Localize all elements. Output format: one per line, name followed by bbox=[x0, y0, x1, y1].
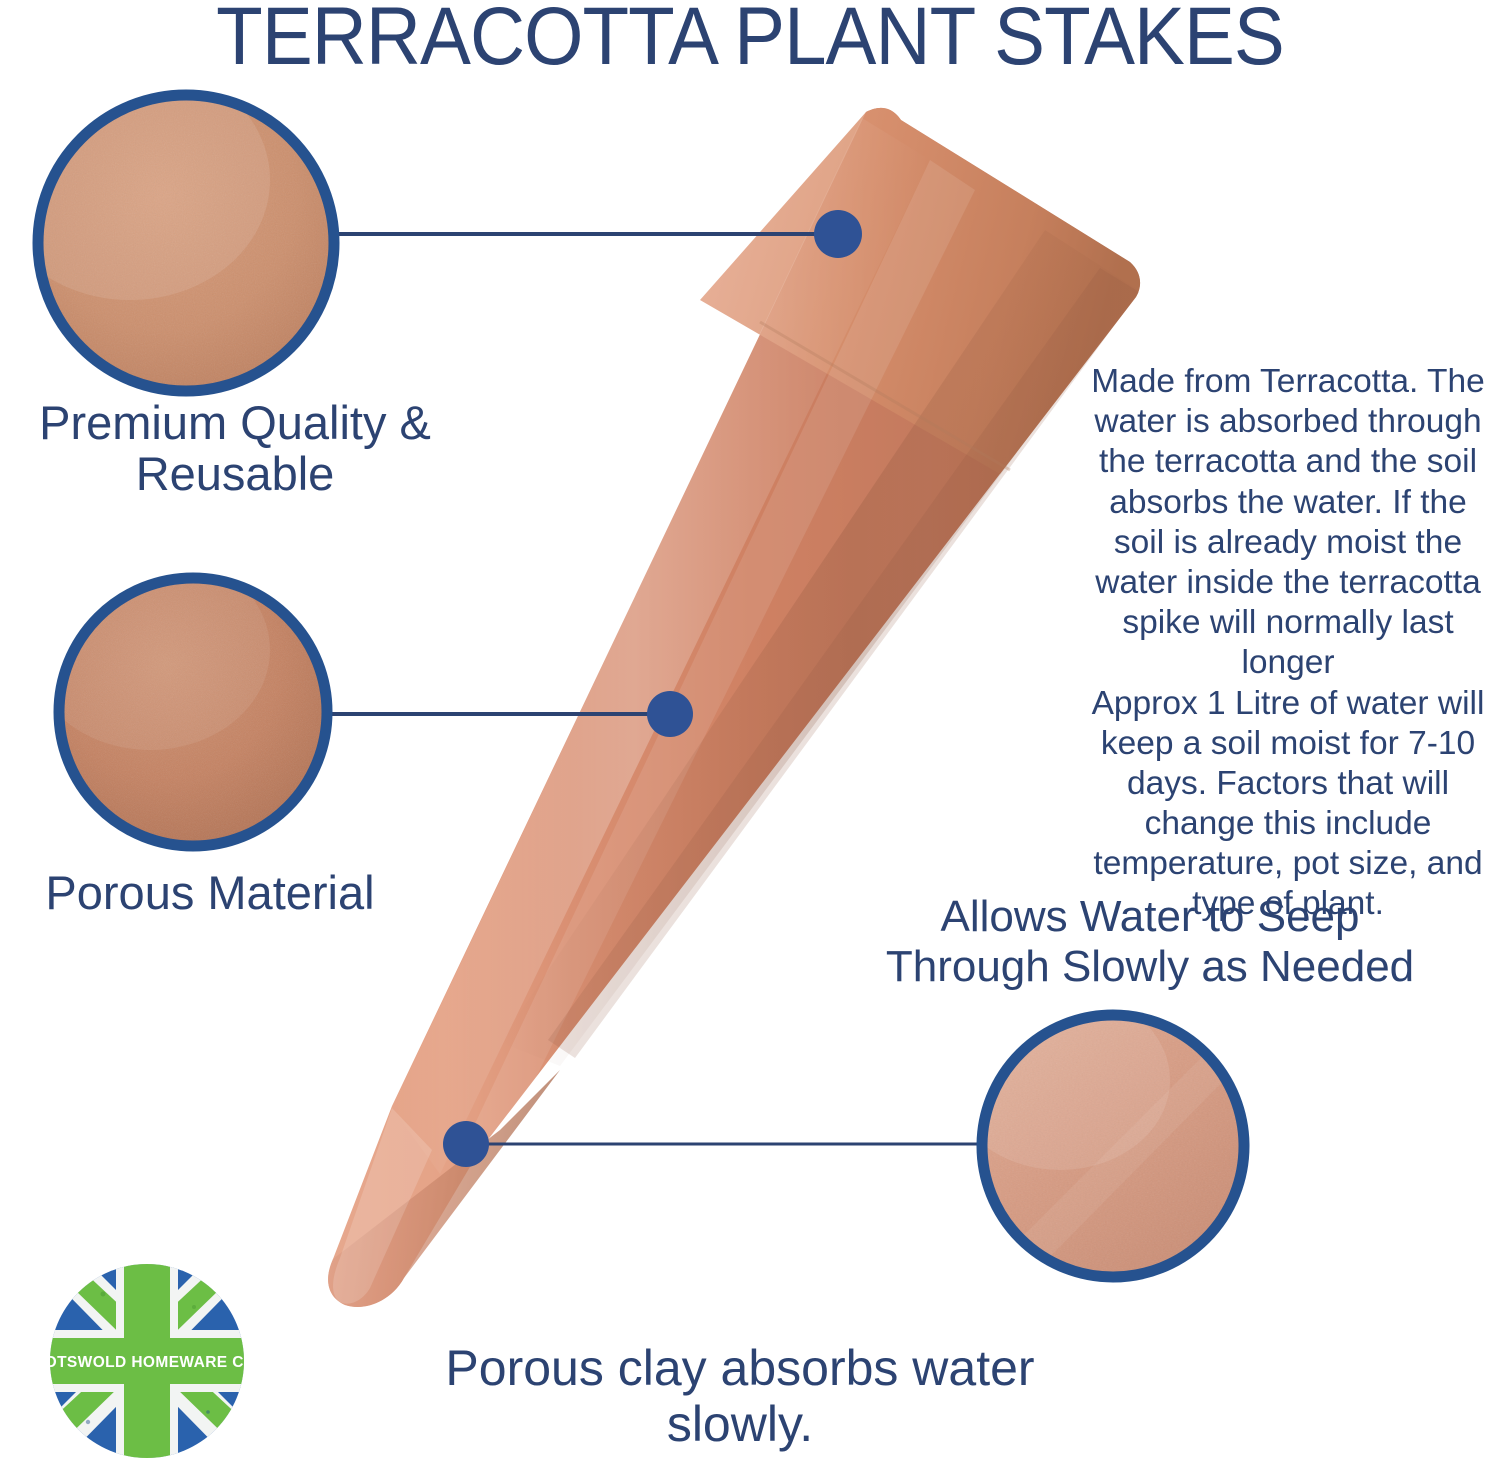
magnifier-porous-material bbox=[30, 550, 327, 846]
product-infographic: TERRACOTTA PLANT STAKES bbox=[0, 0, 1500, 1464]
connector-dot-premium bbox=[814, 210, 862, 258]
union-jack-logo-icon: COTSWOLD HOMEWARE CO. bbox=[48, 1262, 246, 1460]
logo-text: COTSWOLD HOMEWARE CO. bbox=[48, 1354, 246, 1371]
callout-label-premium: Premium Quality & Reusable bbox=[0, 398, 470, 500]
bottom-caption: Porous clay absorbs water slowly. bbox=[345, 1340, 1135, 1452]
brand-logo: COTSWOLD HOMEWARE CO. bbox=[48, 1262, 246, 1460]
callout-label-porous-material: Porous Material bbox=[0, 868, 420, 919]
connector-dot-seep bbox=[443, 1121, 489, 1167]
connector-dot-porous bbox=[647, 691, 693, 737]
magnifier-seep bbox=[950, 990, 1244, 1277]
magnifier-premium bbox=[0, 60, 334, 391]
product-description: Made from Terracotta. The water is absor… bbox=[1082, 362, 1494, 925]
